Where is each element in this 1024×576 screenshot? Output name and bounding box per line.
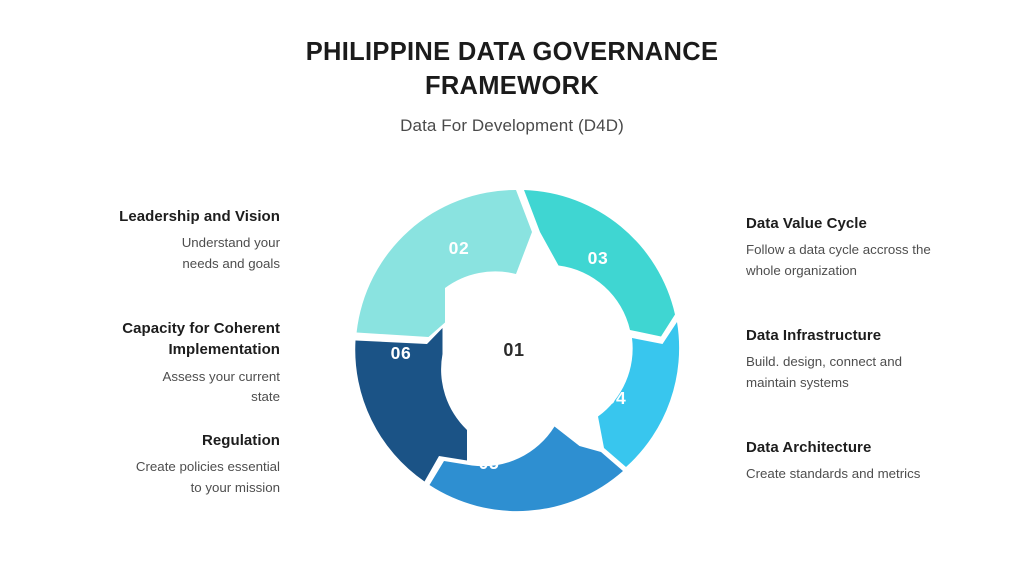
- callout-desc-line-1: Follow a data cycle accross the: [746, 242, 931, 257]
- donut-label-05: 05: [479, 453, 500, 473]
- callout-desc-line-2: maintain systems: [746, 375, 849, 390]
- callout-description: Create policies essential to your missio…: [48, 457, 280, 499]
- donut-label-04: 04: [606, 388, 627, 408]
- callout-title-line-2: Implementation: [168, 341, 280, 358]
- callout-title: Data Infrastructure: [746, 325, 996, 346]
- callout-title: Data Value Cycle: [746, 213, 996, 234]
- callout-description: Assess your current state: [48, 367, 280, 409]
- callout-title: Regulation: [48, 430, 280, 451]
- callout-desc-line-2: to your mission: [191, 480, 280, 495]
- callout-data-architecture[interactable]: Data Architecture Create standards and m…: [746, 437, 996, 485]
- callout-desc-line-1: Assess your current: [163, 369, 281, 384]
- donut-chart-svg: 02 03 04 05 06 01: [348, 184, 680, 516]
- page-subtitle: Data For Development (D4D): [0, 116, 1024, 136]
- donut-chart: 02 03 04 05 06 01: [348, 184, 680, 516]
- callout-title: Leadership and Vision: [48, 206, 280, 227]
- donut-label-03: 03: [588, 248, 609, 268]
- callout-desc-line-2: needs and goals: [182, 256, 280, 271]
- callout-description: Follow a data cycle accross the whole or…: [746, 240, 996, 282]
- callout-title-line-1: Capacity for Coherent: [122, 320, 280, 337]
- callout-desc-line-2: state: [251, 389, 280, 404]
- callout-desc-line-1: Build. design, connect and: [746, 354, 902, 369]
- callout-desc-line-1: Create policies essential: [136, 459, 280, 474]
- donut-label-02: 02: [449, 238, 470, 258]
- callout-title: Capacity for Coherent Implementation: [48, 318, 280, 361]
- callout-description: Create standards and metrics: [746, 464, 996, 485]
- callout-leadership-and-vision[interactable]: Leadership and Vision Understand your ne…: [48, 206, 280, 275]
- callout-desc-line-1: Create standards and metrics: [746, 466, 920, 481]
- callout-description: Build. design, connect and maintain syst…: [746, 352, 996, 394]
- header: PHILIPPINE DATA GOVERNANCE FRAMEWORK Dat…: [0, 36, 1024, 136]
- callout-data-value-cycle[interactable]: Data Value Cycle Follow a data cycle acc…: [746, 213, 996, 282]
- callout-description: Understand your needs and goals: [48, 233, 280, 275]
- page-title: PHILIPPINE DATA GOVERNANCE FRAMEWORK: [272, 36, 752, 104]
- donut-label-06: 06: [391, 343, 412, 363]
- slide-canvas: PHILIPPINE DATA GOVERNANCE FRAMEWORK Dat…: [0, 0, 1024, 576]
- callout-data-infrastructure[interactable]: Data Infrastructure Build. design, conne…: [746, 325, 996, 394]
- callout-capacity-for-coherent-implementation[interactable]: Capacity for Coherent Implementation Ass…: [48, 318, 280, 408]
- callout-title: Data Architecture: [746, 437, 996, 458]
- callout-desc-line-2: whole organization: [746, 263, 857, 278]
- callout-desc-line-1: Understand your: [182, 235, 280, 250]
- donut-label-01-center: 01: [503, 340, 524, 360]
- callout-regulation[interactable]: Regulation Create policies essential to …: [48, 430, 280, 499]
